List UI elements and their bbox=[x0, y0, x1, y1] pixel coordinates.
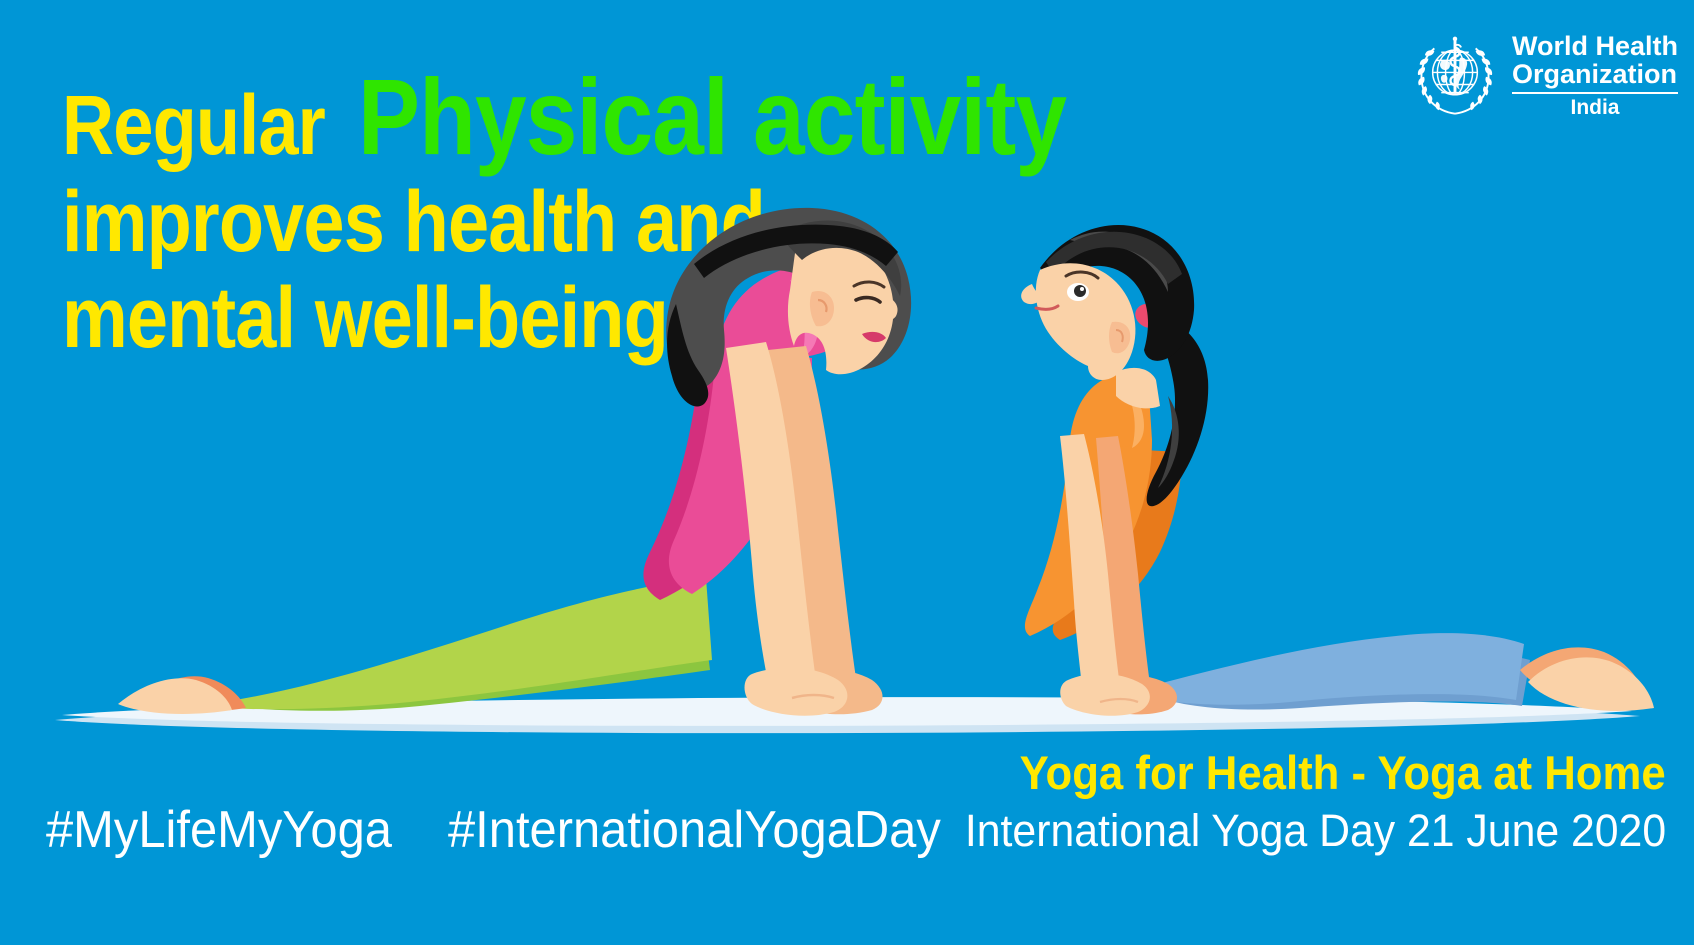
tagline: Yoga for Health - Yoga at Home bbox=[1020, 745, 1666, 800]
girl-face bbox=[1036, 263, 1136, 380]
who-divider-rule bbox=[1512, 92, 1678, 94]
girl-eye-glint bbox=[1080, 287, 1084, 291]
who-wordmark-line-1: World Health bbox=[1512, 32, 1678, 60]
woman-cobra-pose bbox=[118, 208, 911, 716]
headline-line-1: Regular Physical activity bbox=[62, 66, 1162, 168]
poster-canvas: Regular Physical activity improves healt… bbox=[0, 0, 1694, 945]
headline-emphasis-physical-activity: Physical activity bbox=[358, 66, 1066, 168]
girl-eye-pupil bbox=[1074, 285, 1086, 297]
headline-word-regular: Regular bbox=[62, 86, 325, 165]
girl-leg-front bbox=[1128, 633, 1524, 705]
who-wordmark-line-2: Organization bbox=[1512, 60, 1678, 88]
hashtags-row: #MyLifeMyYoga #InternationalYogaDay bbox=[46, 800, 972, 860]
who-country-label: India bbox=[1512, 97, 1678, 119]
girl-cobra-pose bbox=[1021, 225, 1654, 716]
yoga-illustration bbox=[0, 200, 1694, 760]
who-wordmark: World Health Organization India bbox=[1512, 32, 1678, 119]
who-logo: World Health Organization India bbox=[1412, 32, 1678, 119]
who-emblem-icon bbox=[1412, 32, 1498, 118]
hashtag-mylifemyyoga[interactable]: #MyLifeMyYoga bbox=[46, 800, 392, 860]
event-date: International Yoga Day 21 June 2020 bbox=[965, 805, 1666, 857]
hashtag-internationalyogaday[interactable]: #InternationalYogaDay bbox=[448, 800, 941, 860]
woman-leg-front bbox=[200, 578, 712, 709]
